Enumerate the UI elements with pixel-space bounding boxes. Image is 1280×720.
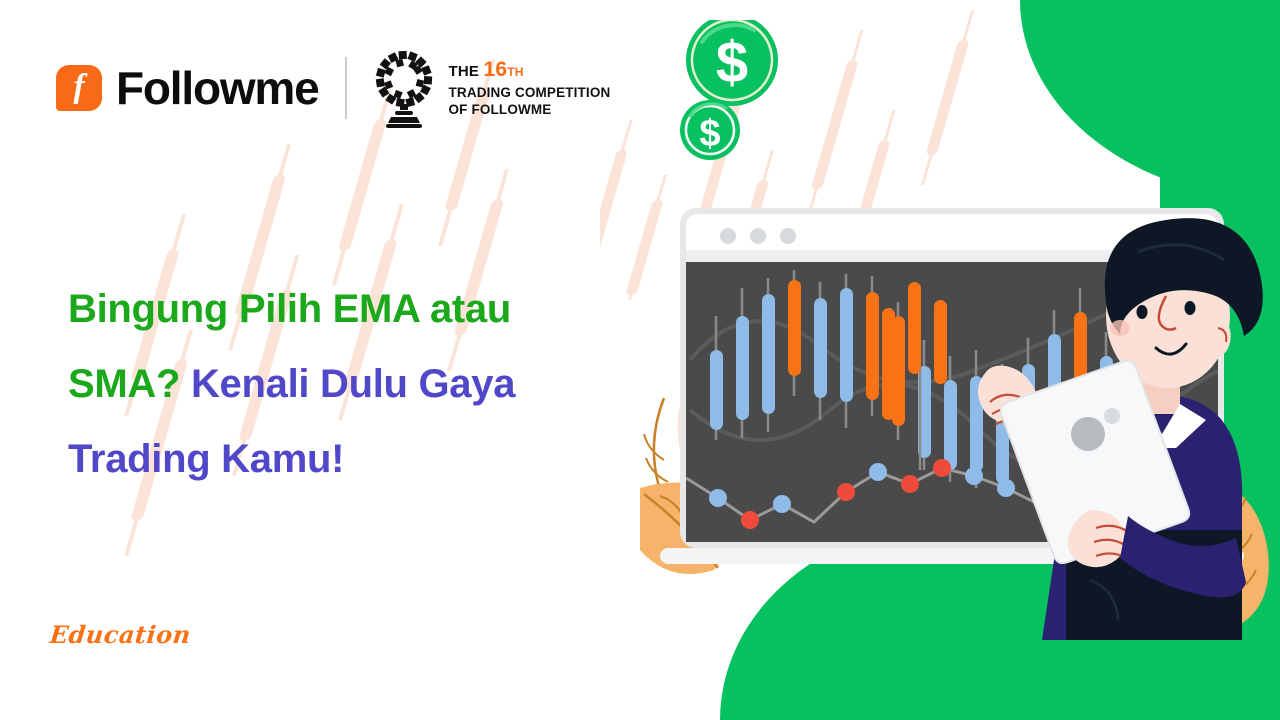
banner-canvas: f Followme xyxy=(0,0,1280,720)
competition-line-2: TRADING COMPETITION xyxy=(449,84,611,101)
browser-dot-3 xyxy=(780,228,796,244)
competition-lockup: THE 16TH TRADING COMPETITION OF FOLLOWME xyxy=(373,48,611,128)
headline: Bingung Pilih EMA atau SMA? Kenali Dulu … xyxy=(68,272,608,498)
competition-ordinal: TH xyxy=(507,65,523,79)
brand-wordmark: Followme xyxy=(116,61,319,115)
tablet-camera-icon xyxy=(1071,417,1105,451)
coin-small: $ xyxy=(680,100,740,160)
trading-illustration: $ $ xyxy=(620,20,1280,720)
followme-logo-icon: f xyxy=(56,65,102,111)
competition-the: THE xyxy=(449,63,480,80)
competition-line-1: THE 16TH xyxy=(449,57,611,84)
browser-dot-2 xyxy=(750,228,766,244)
followme-brand[interactable]: f Followme xyxy=(56,61,319,115)
competition-line-3: OF FOLLOWME xyxy=(449,101,611,118)
coin-large: $ xyxy=(686,20,778,106)
coin-small-symbol: $ xyxy=(699,113,720,155)
category-label: Education xyxy=(48,620,192,649)
competition-number: 16 xyxy=(484,58,508,81)
competition-text-block: THE 16TH TRADING COMPETITION OF FOLLOWME xyxy=(449,57,611,118)
browser-dot-1 xyxy=(720,228,736,244)
brand-mark-glyph: f xyxy=(56,65,102,111)
coin-large-symbol: $ xyxy=(716,30,748,95)
trophy-emblem-icon xyxy=(373,48,435,128)
header-logo-row: f Followme xyxy=(56,48,610,128)
header-divider xyxy=(345,57,347,119)
